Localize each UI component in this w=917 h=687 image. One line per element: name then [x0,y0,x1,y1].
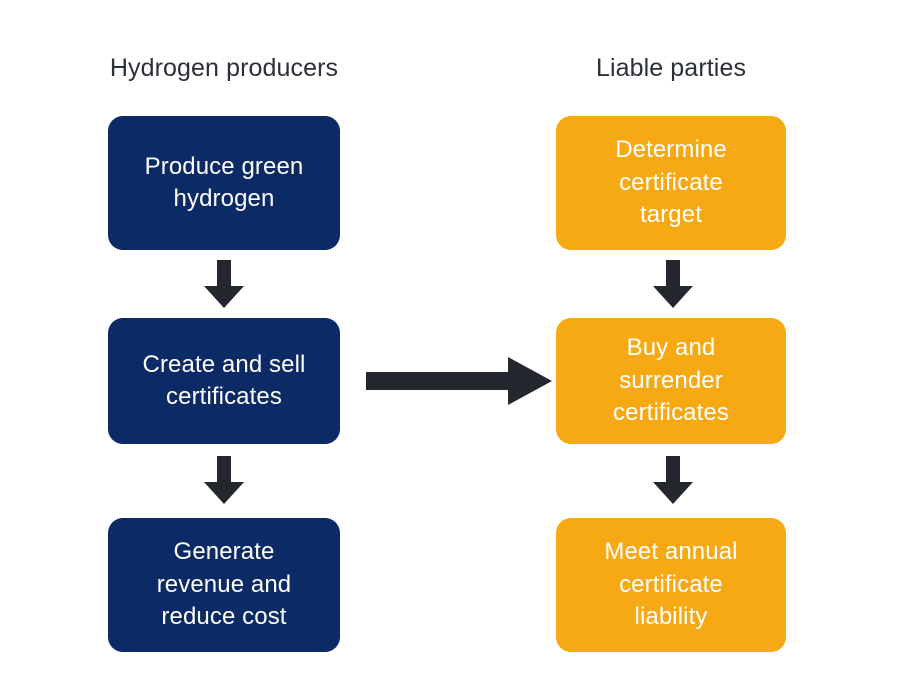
column-header-hydrogen-producers: Hydrogen producers [108,56,340,81]
arrow-down-icon [645,456,701,504]
process-node-buy-and-surrender-certificates[interactable]: Buy and surrender certificates [556,318,786,444]
node-text-line: Generate [157,536,292,568]
node-text-line: revenue and [157,569,292,601]
node-text-line: reduce cost [157,601,292,633]
node-text-line: Produce green [145,151,304,183]
arrow-down-icon [196,260,252,308]
node-text-line: Meet annual [604,536,737,568]
process-node-generate-revenue-and-reduce-cost[interactable]: Generate revenue and reduce cost [108,518,340,652]
node-text-line: Determine [615,134,727,166]
node-text-line: certificates [143,381,306,413]
node-text-line: liability [604,601,737,633]
node-text-line: Buy and [613,332,729,364]
process-node-meet-annual-certificate-liability[interactable]: Meet annual certificate liability [556,518,786,652]
node-text-line: target [615,199,727,231]
node-text-line: certificates [613,397,729,429]
node-text-line: certificate [615,167,727,199]
node-text-line: certificate [604,569,737,601]
arrow-down-icon [196,456,252,504]
process-node-determine-certificate-target[interactable]: Determine certificate target [556,116,786,250]
column-header-liable-parties: Liable parties [556,56,786,81]
flowchart-canvas: Hydrogen producers Liable parties Produc… [0,0,917,687]
node-text-line: hydrogen [145,183,304,215]
node-text-line: surrender [613,365,729,397]
process-node-produce-green-hydrogen[interactable]: Produce green hydrogen [108,116,340,250]
arrow-right-icon [366,353,552,409]
node-text-line: Create and sell [143,349,306,381]
process-node-create-and-sell-certificates[interactable]: Create and sell certificates [108,318,340,444]
arrow-down-icon [645,260,701,308]
